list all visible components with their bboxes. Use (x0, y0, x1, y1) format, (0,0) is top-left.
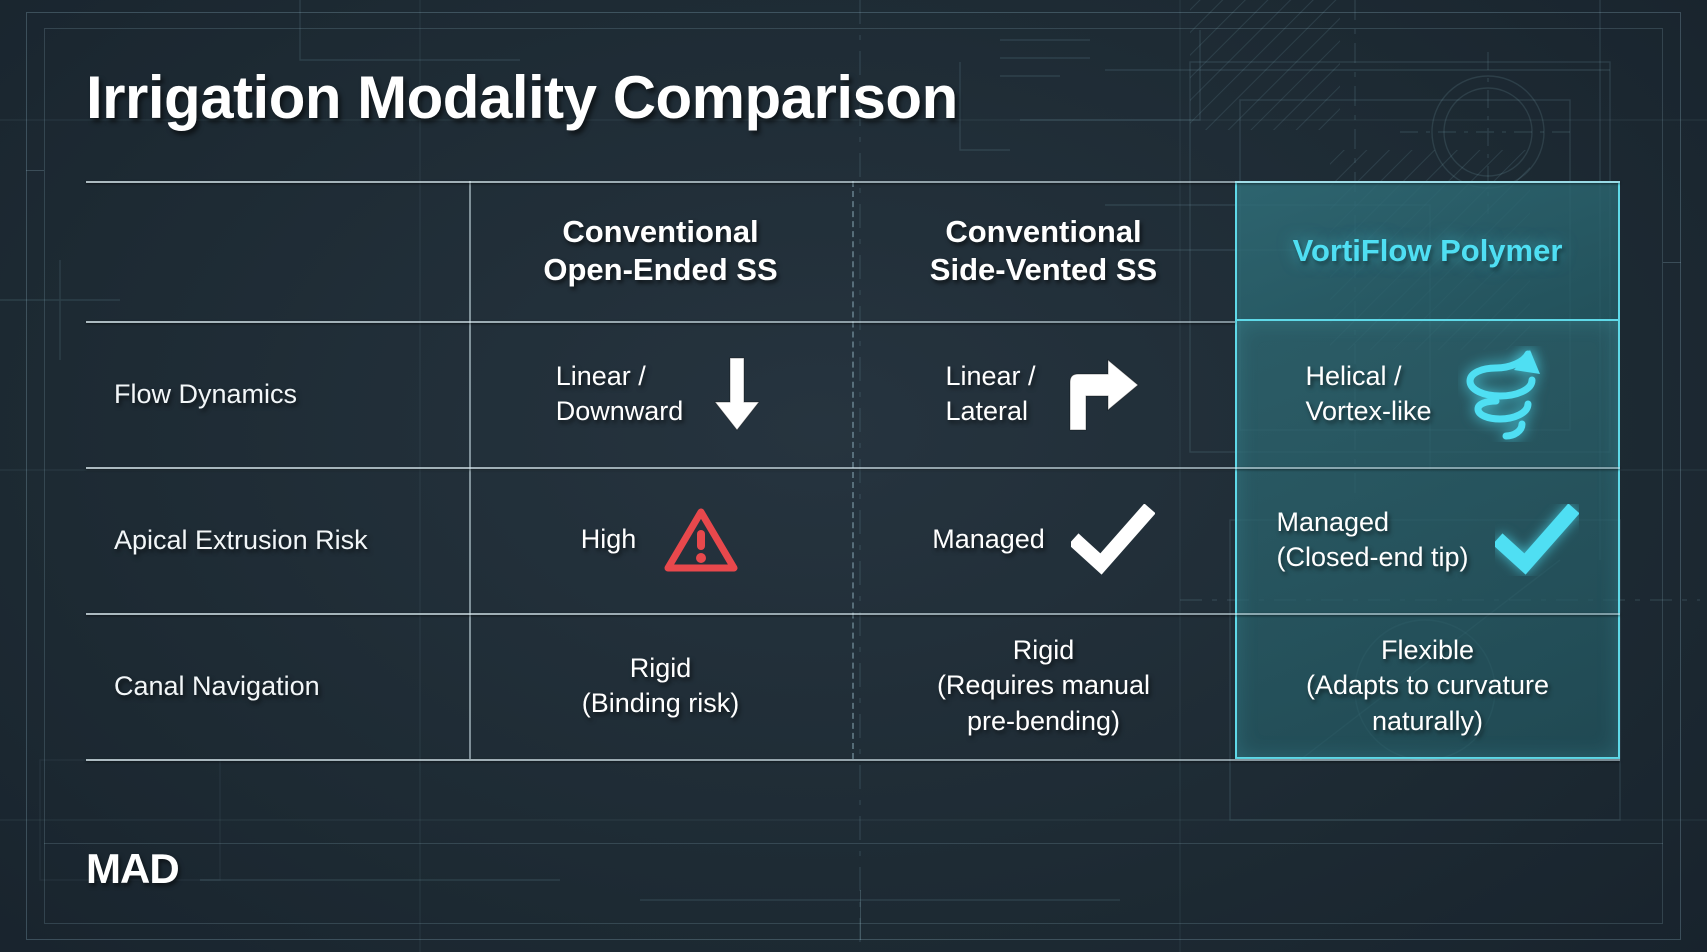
cell-nav-open-ended: Rigid (Binding risk) (469, 613, 852, 759)
slide-root: Irrigation Modality Comparison Conventio… (0, 0, 1707, 952)
cell-flow-vortiflow: Helical / Vortex-like (1235, 321, 1620, 467)
table-row: Apical Extrusion Risk High (86, 467, 1620, 613)
rule-bottom (86, 759, 1620, 761)
page-title: Irrigation Modality Comparison (86, 66, 1645, 129)
cell-text: Helical / Vortex-like (1305, 359, 1431, 429)
comparison-table: Conventional Open-Ended SS Conventional … (86, 181, 1620, 759)
slide-content: Irrigation Modality Comparison Conventio… (0, 0, 1707, 952)
header-label-open-ended: Conventional Open-Ended SS (543, 213, 777, 289)
cell-nav-vortiflow: Flexible (Adapts to curvature naturally) (1235, 613, 1620, 759)
cell-text: Rigid (Binding risk) (582, 651, 740, 721)
vortex-spiral-icon (1458, 346, 1550, 442)
cell-text: High (581, 522, 637, 557)
arrow-elbow-right-icon (1062, 354, 1142, 434)
cell-risk-open-ended: High (469, 467, 852, 613)
rule-top (86, 181, 1620, 183)
warning-triangle-icon (662, 504, 740, 576)
header-cell-open-ended: Conventional Open-Ended SS (469, 181, 852, 321)
header-label-side-vented: Conventional Side-Vented SS (930, 213, 1157, 289)
header-label-vortiflow: VortiFlow Polymer (1293, 232, 1563, 270)
row-label-apical-extrusion-risk: Apical Extrusion Risk (86, 467, 469, 613)
checkmark-icon (1071, 504, 1155, 576)
table-row: Canal Navigation Rigid (Binding risk) Ri… (86, 613, 1620, 759)
cell-text: Linear / Lateral (945, 359, 1035, 429)
checkmark-icon (1495, 504, 1579, 576)
cell-text: Managed (Closed-end tip) (1276, 505, 1468, 575)
table-row: Flow Dynamics Linear / Downward Li (86, 321, 1620, 467)
cell-risk-vortiflow: Managed (Closed-end tip) (1235, 467, 1620, 613)
header-cell-side-vented: Conventional Side-Vented SS (852, 181, 1235, 321)
row-label-canal-navigation: Canal Navigation (86, 613, 469, 759)
cell-text: Flexible (Adapts to curvature naturally) (1306, 633, 1549, 738)
arrow-down-icon (709, 354, 765, 434)
cell-text: Managed (932, 522, 1045, 557)
header-cell-criterion (86, 181, 469, 321)
cell-text: Linear / Downward (556, 359, 684, 429)
cell-risk-side-vented: Managed (852, 467, 1235, 613)
cell-flow-side-vented: Linear / Lateral (852, 321, 1235, 467)
header-cell-vortiflow: VortiFlow Polymer (1235, 181, 1620, 321)
cell-nav-side-vented: Rigid (Requires manual pre-bending) (852, 613, 1235, 759)
row-label-text: Flow Dynamics (114, 379, 297, 410)
table-header-row: Conventional Open-Ended SS Conventional … (86, 181, 1620, 321)
cell-text: Rigid (Requires manual pre-bending) (937, 633, 1150, 738)
row-label-flow-dynamics: Flow Dynamics (86, 321, 469, 467)
row-label-text: Canal Navigation (114, 671, 320, 702)
brand-logo: MAD (86, 848, 179, 890)
row-label-text: Apical Extrusion Risk (114, 525, 368, 556)
brand-logo-text: MAD (86, 848, 179, 890)
cell-flow-open-ended: Linear / Downward (469, 321, 852, 467)
